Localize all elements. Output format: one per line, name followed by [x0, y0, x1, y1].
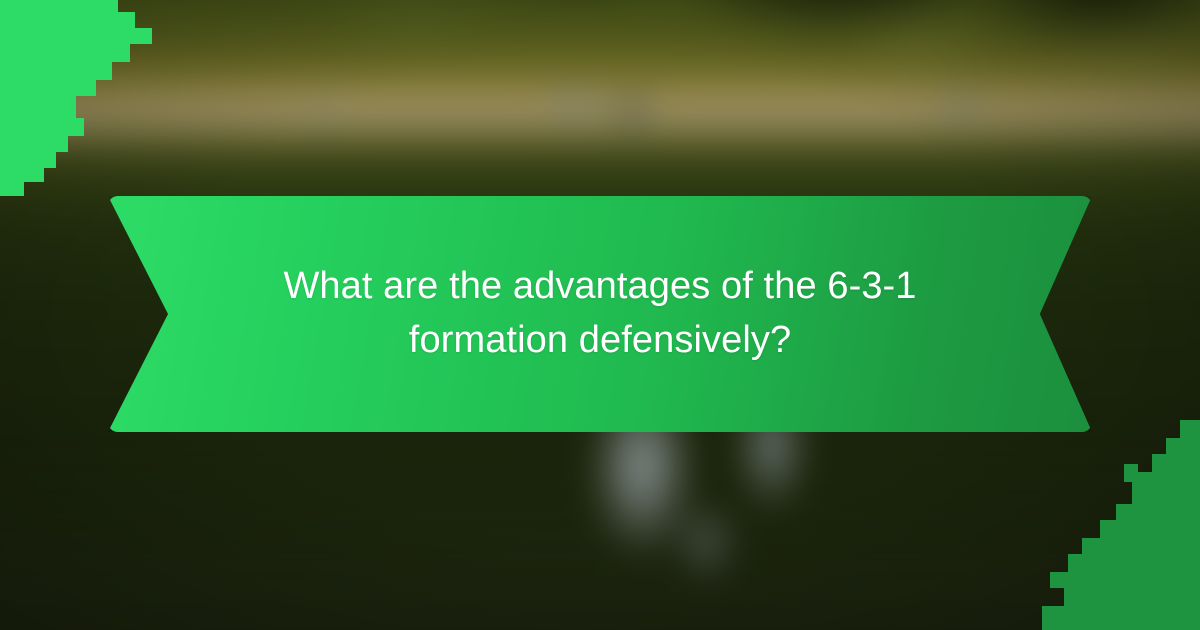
share-card-canvas: What are the advantages of the 6-3-1 for…	[0, 0, 1200, 630]
question-text: What are the advantages of the 6-3-1 for…	[108, 196, 1092, 432]
question-banner: What are the advantages of the 6-3-1 for…	[108, 196, 1092, 432]
